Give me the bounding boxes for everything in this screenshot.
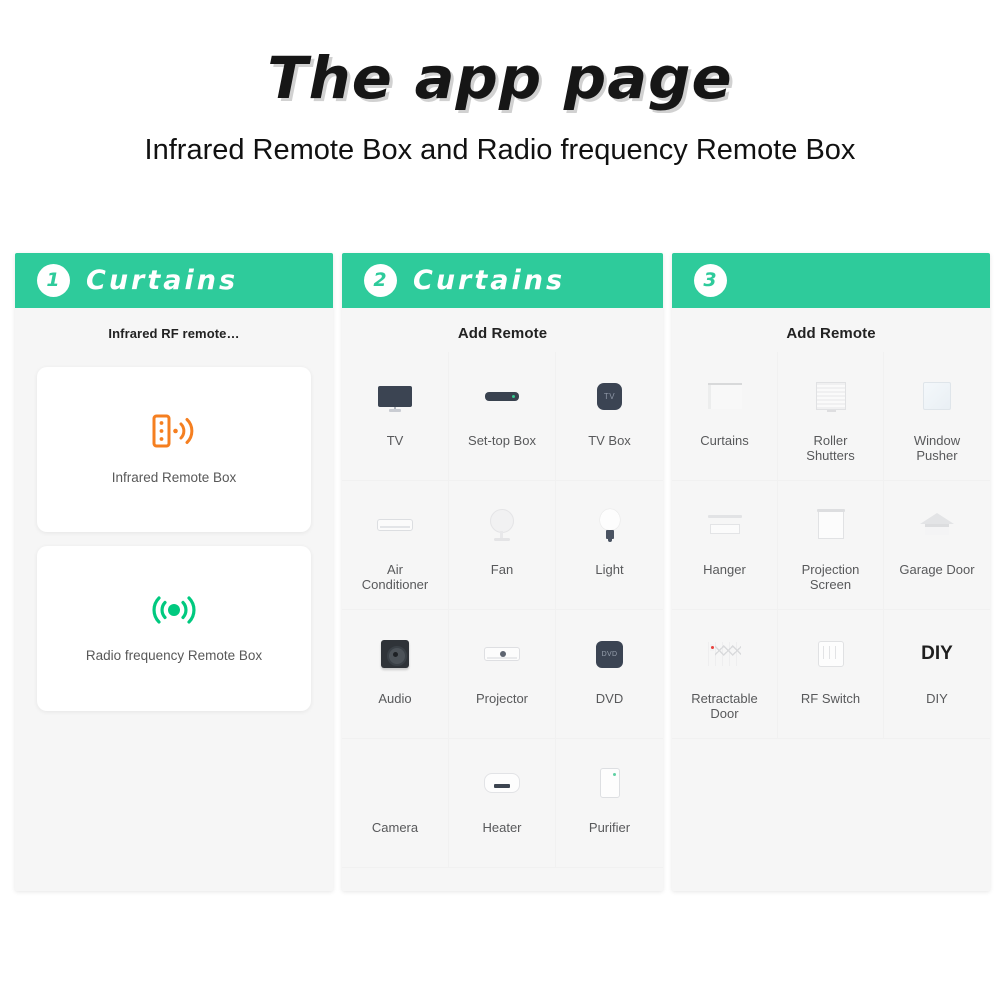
panel-step-1: 1 Curtains Infrared RF remote… [15,253,333,891]
panel-3-header: 3 [672,253,990,308]
device-cell-projector[interactable]: Projector [449,610,556,739]
device-label: Purifier [589,821,630,836]
panel-step-2: 2 Curtains Add Remote TV Set-top Box TV [342,253,663,891]
heater-icon [473,761,531,805]
panel-2-title: Curtains [413,265,565,296]
step-badge-2: 2 [364,264,397,297]
infrared-remote-icon [151,414,197,448]
air-conditioner-icon [366,503,424,547]
garage-door-icon [908,503,966,547]
device-label: Set-top Box [468,434,536,449]
radio-frequency-remote-box-card[interactable]: Radio frequency Remote Box [37,546,311,711]
audio-speaker-icon [366,632,424,676]
window-pusher-icon [908,374,966,418]
panel-3-body: Add Remote Curtains Roller Shutters Wind… [672,308,990,891]
device-cell-purifier[interactable]: Purifier [556,739,663,868]
device-cell-audio[interactable]: Audio [342,610,449,739]
device-label: TV Box [588,434,631,449]
step-badge-1: 1 [37,264,70,297]
dvd-icon: DVD [581,632,639,676]
infrared-remote-box-label: Infrared Remote Box [112,470,237,485]
device-label: Air Conditioner [353,563,437,593]
device-cell-fan[interactable]: Fan [449,481,556,610]
device-cell-light[interactable]: Light [556,481,663,610]
device-cell-heater[interactable]: Heater [449,739,556,868]
device-label: RF Switch [801,692,860,707]
device-label: Projector [476,692,528,707]
step-badge-3: 3 [694,264,727,297]
device-cell-dvd[interactable]: DVD DVD [556,610,663,739]
radio-frequency-icon [150,594,198,626]
panel-2-header: 2 Curtains [342,253,663,308]
device-cell-hanger[interactable]: Hanger [672,481,778,610]
device-cell-rf-switch[interactable]: RF Switch [778,610,884,739]
panel-1-body: Infrared RF remote… [15,308,333,891]
device-label: Fan [491,563,513,578]
device-cell-curtains[interactable]: Curtains [672,352,778,481]
device-label: Roller Shutters [789,434,873,464]
device-type-grid-ir: TV Set-top Box TV TV Box Air Conditioner [342,352,663,868]
device-label: Heater [482,821,521,836]
purifier-icon [581,761,639,805]
fan-icon [473,503,531,547]
rf-switch-icon [802,632,860,676]
curtains-icon [696,374,754,418]
camera-icon [366,761,424,805]
device-cell-tv[interactable]: TV [342,352,449,481]
projection-screen-icon [802,503,860,547]
retractable-door-icon [696,632,754,676]
device-label: DIY [926,692,948,707]
panel-1-header: 1 Curtains [15,253,333,308]
device-cell-retractable-door[interactable]: Retractable Door [672,610,778,739]
panel-2-body: Add Remote TV Set-top Box TV TV Box [342,308,663,891]
device-cell-projection-screen[interactable]: Projection Screen [778,481,884,610]
device-cell-camera[interactable]: Camera [342,739,449,868]
device-label: Projection Screen [789,563,873,593]
remote-type-list: Infrared Remote Box Radi [15,341,333,711]
hanger-icon [696,503,754,547]
device-cell-garage-door[interactable]: Garage Door [884,481,990,610]
device-label: DVD [596,692,623,707]
device-label: Garage Door [899,563,974,578]
panel-1-title: Curtains [86,265,238,296]
device-label: Hanger [703,563,746,578]
device-label: Light [595,563,623,578]
tv-box-icon: TV [581,374,639,418]
panel-1-subtitle: Infrared RF remote… [15,308,333,341]
diy-icon: DIY [908,632,966,676]
panel-3-subtitle: Add Remote [672,308,990,342]
device-cell-set-top-box[interactable]: Set-top Box [449,352,556,481]
device-cell-tv-box[interactable]: TV TV Box [556,352,663,481]
device-label: Camera [372,821,418,836]
light-bulb-icon [581,503,639,547]
device-label: TV [387,434,404,449]
device-label: Retractable Door [683,692,767,722]
panel-row: 1 Curtains Infrared RF remote… [15,253,990,891]
device-cell-diy[interactable]: DIY DIY [884,610,990,739]
radio-frequency-remote-box-label: Radio frequency Remote Box [86,648,262,663]
roller-shutters-icon [802,374,860,418]
app-page-graphic: The app page Infrared Remote Box and Rad… [0,0,1000,1000]
panel-2-subtitle: Add Remote [342,308,663,342]
device-label: Curtains [700,434,748,449]
device-cell-air-conditioner[interactable]: Air Conditioner [342,481,449,610]
device-label: Window Pusher [895,434,979,464]
page-subtitle: Infrared Remote Box and Radio frequency … [0,134,1000,167]
projector-icon [473,632,531,676]
tv-icon [366,374,424,418]
set-top-box-icon [473,374,531,418]
panel-step-3: 3 Add Remote Curtains Roller Shutters [672,253,990,891]
device-cell-window-pusher[interactable]: Window Pusher [884,352,990,481]
infrared-remote-box-card[interactable]: Infrared Remote Box [37,367,311,532]
device-cell-roller-shutters[interactable]: Roller Shutters [778,352,884,481]
page-title: The app page [0,44,1000,112]
device-type-grid-rf: Curtains Roller Shutters Window Pusher H… [672,352,990,739]
device-label: Audio [378,692,411,707]
